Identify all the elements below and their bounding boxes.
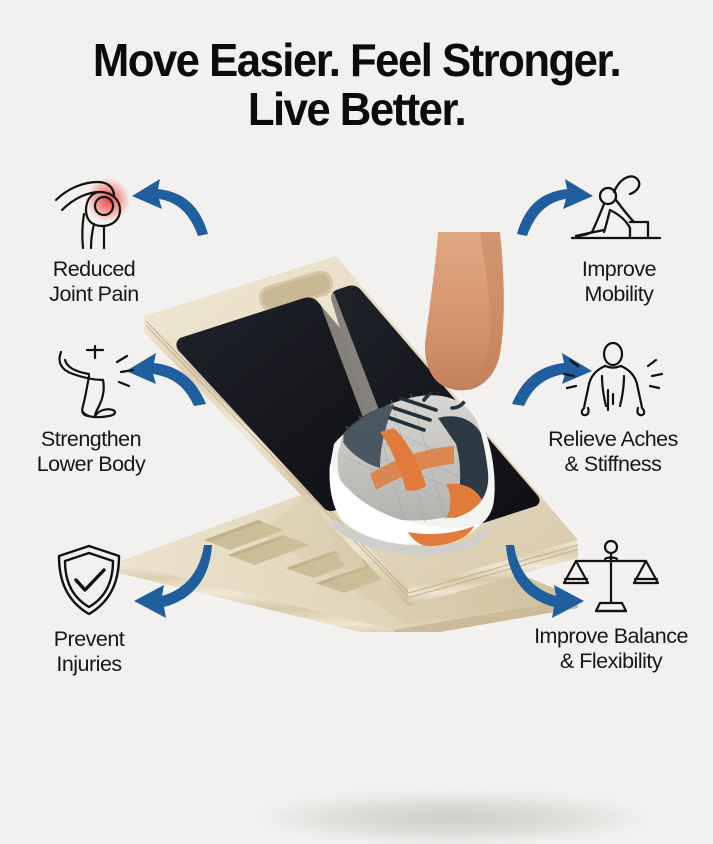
benefit-label: Relieve Aches & Stiffness [513,427,713,477]
headline-line-1: Move Easier. Feel Stronger. [93,34,620,86]
benefit-improve-balance-flexibility[interactable]: Improve Balance & Flexibility [511,533,711,674]
benefit-label: Reduced Joint Pain [0,257,194,307]
benefit-prevent-injuries[interactable]: Prevent Injuries [0,536,189,677]
benefit-strengthen-lower-body[interactable]: Strengthen Lower Body [0,336,191,477]
leg-muscle-icon [0,336,191,420]
knee-joint-pain-icon [0,166,194,250]
body-relief-icon [513,336,713,420]
infographic-canvas: Move Easier. Feel Stronger. Live Better. [0,0,713,713]
benefit-label: Prevent Injuries [0,627,189,677]
shield-check-icon [0,536,189,620]
benefit-improve-mobility[interactable]: Improve Mobility [519,166,713,307]
benefit-relieve-aches-stiffness[interactable]: Relieve Aches & Stiffness [513,336,713,477]
benefit-label: Improve Mobility [519,257,713,307]
product-drop-shadow [258,792,648,844]
benefit-label: Improve Balance & Flexibility [511,624,711,674]
benefit-reduced-joint-pain[interactable]: Reduced Joint Pain [0,166,194,307]
benefit-label: Strengthen Lower Body [0,427,191,477]
headline-line-2: Live Better. [18,85,695,134]
balance-scale-icon [511,533,711,617]
yoga-stretch-icon [519,166,713,250]
page-title: Move Easier. Feel Stronger. Live Better. [18,36,695,134]
